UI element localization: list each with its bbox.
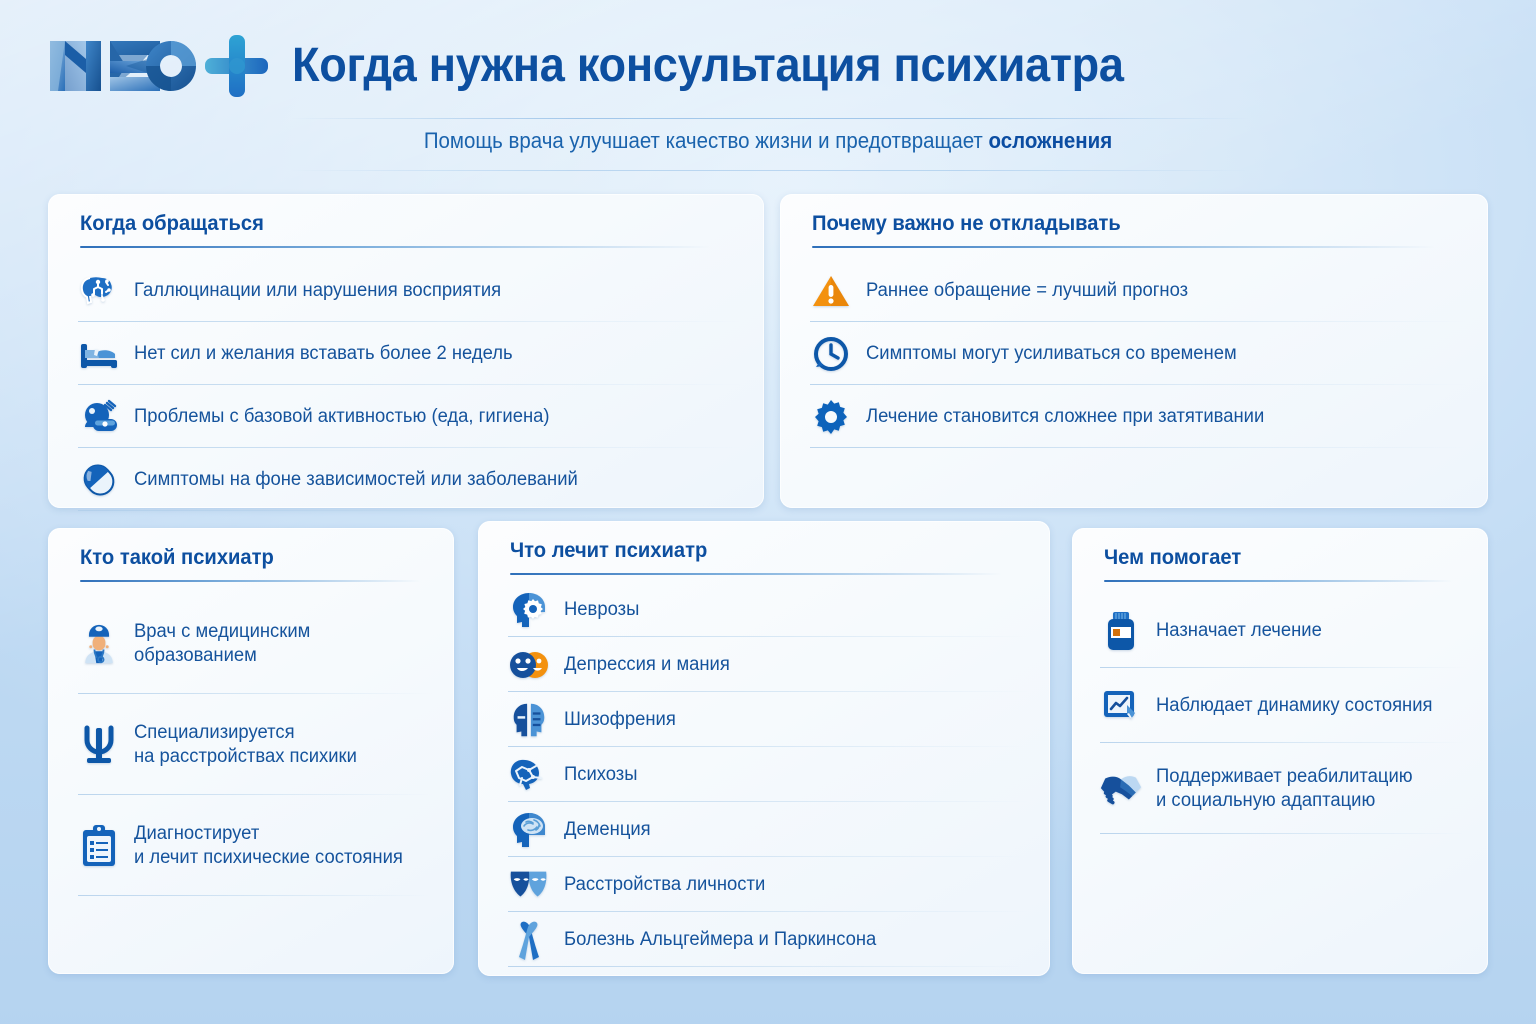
list-item[interactable]: Неврозы bbox=[508, 583, 1028, 638]
list-item[interactable]: Проблемы с базовой активностью (еда, гиг… bbox=[78, 386, 742, 449]
card-when-to-seek-help: Когда обращаться Галлюцинации или наруше… bbox=[48, 194, 764, 508]
card-item-list: Раннее обращение = лучший прогноз Симпто… bbox=[810, 260, 1466, 449]
neo-plus-logo bbox=[48, 33, 278, 99]
header-divider-bottom bbox=[290, 170, 1250, 171]
page-header: Когда нужна консультация психиатра Помощ… bbox=[0, 0, 1536, 176]
pill-capsule-icon bbox=[78, 459, 120, 501]
list-item-label-line1: Диагностирует bbox=[134, 823, 259, 844]
card-title: Кто такой психиатр bbox=[80, 546, 274, 570]
list-item-label-line2: и социальную адаптацию bbox=[1156, 789, 1413, 813]
doctor-icon bbox=[78, 623, 120, 665]
clock-icon bbox=[810, 333, 852, 375]
list-item-label: Симптомы могут усиливаться со временем bbox=[866, 342, 1237, 366]
list-item[interactable]: Деменция bbox=[508, 803, 1028, 858]
list-item[interactable]: Поддерживает реабилитациюи социальную ад… bbox=[1100, 744, 1466, 835]
list-item-label: Диагностируети лечит психические состоян… bbox=[134, 822, 403, 871]
list-item[interactable]: Симптомы на фоне зависимостей или заболе… bbox=[78, 449, 742, 512]
two-masks-faces-icon bbox=[508, 644, 550, 686]
head-brain-icon bbox=[508, 809, 550, 851]
list-item-label: Нет сил и желания вставать более 2 недел… bbox=[134, 342, 513, 366]
card-title-underline bbox=[80, 246, 710, 248]
subtitle-main: Помощь врача улучшает качество жизни и п… bbox=[424, 128, 989, 153]
list-item[interactable]: Наблюдает динамику состояния bbox=[1100, 669, 1466, 744]
list-item-label-line2: и лечит психические состояния bbox=[134, 846, 403, 870]
card-title: Когда обращаться bbox=[80, 212, 264, 236]
list-item-label-line2: на расстройствах психики bbox=[134, 745, 357, 769]
brain-icon bbox=[78, 270, 120, 312]
list-item-label: Депрессия и мания bbox=[564, 653, 730, 677]
list-item-label: Назначает лечение bbox=[1156, 619, 1322, 643]
list-item-label: Психозы bbox=[564, 763, 638, 787]
card-title-underline bbox=[1104, 580, 1453, 582]
card-item-list: Врач с медицинскимобразованием Специализ… bbox=[78, 594, 432, 897]
card-title-underline bbox=[510, 573, 1002, 575]
medicine-bottle-icon bbox=[1100, 610, 1142, 652]
list-item-label: Галлюцинации или нарушения восприятия bbox=[134, 279, 501, 303]
list-item-label-line1: Поддерживает реабилитацию bbox=[1156, 766, 1413, 787]
list-item[interactable]: Галлюцинации или нарушения восприятия bbox=[78, 260, 742, 323]
list-item[interactable]: Психозы bbox=[508, 748, 1028, 803]
header-divider-top bbox=[290, 118, 1250, 119]
list-item[interactable]: Симптомы могут усиливаться со временем bbox=[810, 323, 1466, 386]
list-item[interactable]: Депрессия и мания bbox=[508, 638, 1028, 693]
list-item-label-line1: Специализируется bbox=[134, 722, 295, 743]
list-item-label: Лечение становится сложнее при затятиван… bbox=[866, 405, 1264, 429]
list-item[interactable]: Диагностируети лечит психические состоян… bbox=[78, 796, 432, 897]
list-item[interactable]: Шизофрения bbox=[508, 693, 1028, 748]
list-item-label: Поддерживает реабилитациюи социальную ад… bbox=[1156, 765, 1413, 814]
list-item[interactable]: Лечение становится сложнее при затятиван… bbox=[810, 386, 1466, 449]
split-head-icon bbox=[508, 699, 550, 741]
list-item-label: Наблюдает динамику состояния bbox=[1156, 694, 1433, 718]
list-item-label: Проблемы с базовой активностью (еда, гиг… bbox=[134, 405, 550, 429]
list-item-label: Шизофрения bbox=[564, 708, 676, 732]
page-subtitle: Помощь врача улучшает качество жизни и п… bbox=[54, 128, 1482, 154]
list-item[interactable]: Нет сил и желания вставать более 2 недел… bbox=[78, 323, 742, 386]
list-item[interactable]: Специализируетсяна расстройствах психики bbox=[78, 695, 432, 796]
list-item[interactable]: Расстройства личности bbox=[508, 858, 1028, 913]
handshake-icon bbox=[1100, 768, 1142, 810]
list-item-label: Деменция bbox=[564, 818, 651, 842]
list-item-label: Специализируетсяна расстройствах психики bbox=[134, 721, 357, 770]
awareness-ribbon-icon bbox=[508, 919, 550, 961]
head-gear-icon bbox=[508, 589, 550, 631]
theater-masks-icon bbox=[508, 864, 550, 906]
list-item-label: Раннее обращение = лучший прогноз bbox=[866, 279, 1188, 303]
list-item-label: Неврозы bbox=[564, 598, 639, 622]
card-title-underline bbox=[812, 246, 1435, 248]
list-item-label: Расстройства личности bbox=[564, 873, 765, 897]
warning-triangle-icon bbox=[810, 270, 852, 312]
list-item-label: Врач с медицинскимобразованием bbox=[134, 620, 310, 669]
clipboard-icon bbox=[78, 825, 120, 867]
list-item-label: Симптомы на фоне зависимостей или заболе… bbox=[134, 468, 578, 492]
card-item-list: Неврозы Депрессия и мания bbox=[508, 583, 1028, 968]
chart-monitor-icon bbox=[1100, 685, 1142, 727]
card-why-not-delay: Почему важно не откладывать Раннее обращ… bbox=[780, 194, 1488, 508]
list-item[interactable]: Болезнь Альцгеймера и Паркинсона bbox=[508, 913, 1028, 968]
bed-icon bbox=[78, 333, 120, 375]
page-title: Когда нужна консультация психиатра bbox=[292, 38, 1124, 93]
list-item[interactable]: Раннее обращение = лучший прогноз bbox=[810, 260, 1466, 323]
card-item-list: Галлюцинации или нарушения восприятия Не… bbox=[78, 260, 742, 512]
card-title: Чем помогает bbox=[1104, 546, 1241, 570]
list-item-label-line2: образованием bbox=[134, 644, 310, 668]
list-item-label-line1: Врач с медицинским bbox=[134, 621, 310, 642]
card-who-is-psychiatrist: Кто такой психиатр Врач с медицинскимобр… bbox=[48, 528, 454, 974]
card-how-it-helps: Чем помогает Назначает лечение bbox=[1072, 528, 1488, 974]
list-item[interactable]: Врач с медицинскимобразованием bbox=[78, 594, 432, 695]
hygiene-food-icon bbox=[78, 396, 120, 438]
card-what-psychiatrist-treats: Что лечит психиатр Неврозы bbox=[478, 521, 1050, 976]
gear-icon bbox=[810, 396, 852, 438]
card-item-list: Назначает лечение Наблюдает динамику сос… bbox=[1100, 594, 1466, 835]
psi-icon bbox=[78, 724, 120, 766]
card-title: Почему важно не откладывать bbox=[812, 212, 1121, 236]
psychosis-icon bbox=[508, 754, 550, 796]
list-item-label: Болезнь Альцгеймера и Паркинсона bbox=[564, 928, 876, 952]
card-title: Что лечит психиатр bbox=[510, 539, 707, 563]
subtitle-accent: осложнения bbox=[988, 128, 1112, 153]
list-item[interactable]: Назначает лечение bbox=[1100, 594, 1466, 669]
card-title-underline bbox=[80, 580, 421, 582]
